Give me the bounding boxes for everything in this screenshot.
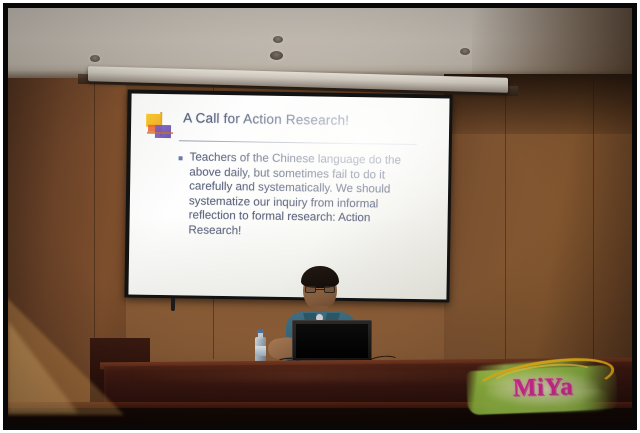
laptop-lid <box>292 320 372 362</box>
ceiling-downlight <box>90 55 100 62</box>
laptop-screen <box>296 324 368 358</box>
wall-panel-seam <box>593 78 594 368</box>
watermark-text: MiYa <box>463 372 624 404</box>
glasses-icon <box>305 286 335 293</box>
watermark-miya: MiYa <box>463 360 623 422</box>
laptop <box>292 320 372 366</box>
photo-frame: A Call for Action Research! Teachers of … <box>0 0 640 433</box>
bullet-marker-icon <box>179 156 183 160</box>
light-beam-inner <box>8 321 78 413</box>
ceiling-downlight <box>273 36 283 43</box>
photo-border: A Call for Action Research! Teachers of … <box>3 3 637 430</box>
bottle-label <box>255 346 266 356</box>
slide-decoration-icon <box>145 112 180 147</box>
slide-title-rule <box>179 140 417 145</box>
presenter-hair <box>301 266 339 288</box>
photo-scene: A Call for Action Research! Teachers of … <box>8 8 632 425</box>
ceiling-downlight <box>460 48 470 55</box>
slide-bullet-item: Teachers of the Chinese language do the … <box>177 150 426 241</box>
ceiling-downlight <box>270 51 283 60</box>
wall-panel-seam <box>505 78 506 368</box>
water-bottle <box>255 330 266 363</box>
slide-title: A Call for Action Research! <box>183 110 349 128</box>
slide-bullet-text: Teachers of the Chinese language do the … <box>188 150 426 241</box>
screen-bottom-weight <box>171 298 175 311</box>
